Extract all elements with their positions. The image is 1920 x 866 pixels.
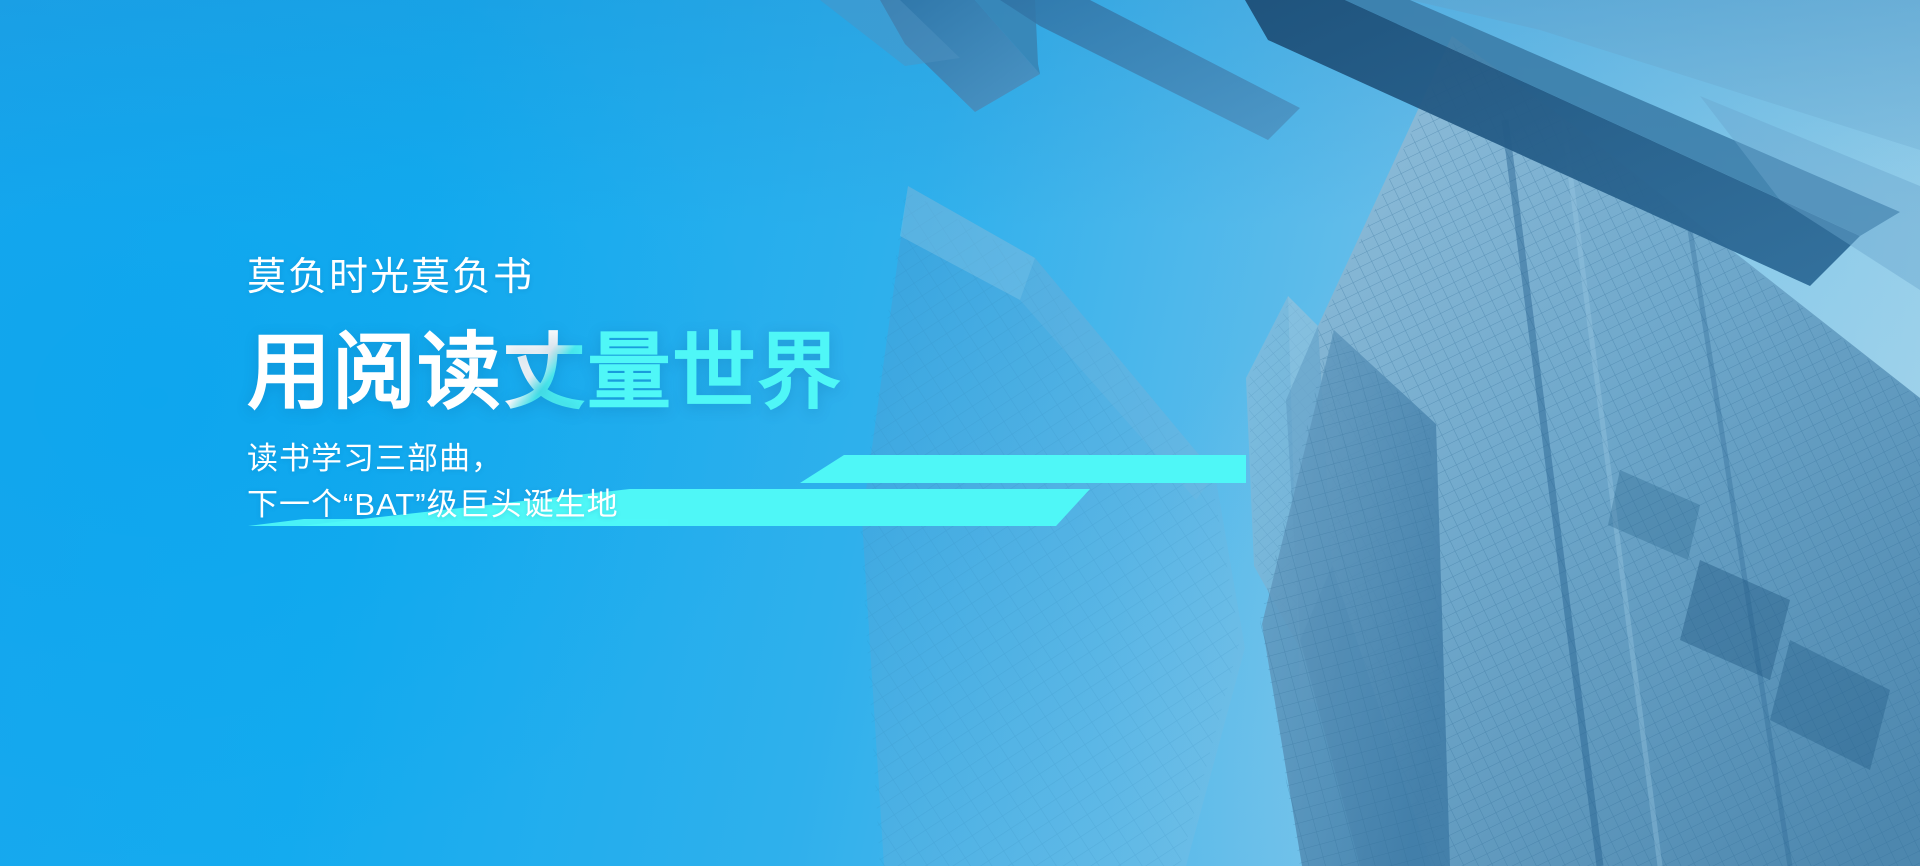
banner-subline-2: 下一个“BAT”级巨头诞生地 [247,482,1147,528]
promo-banner: 莫负时光莫负书 用阅读丈量世界 读书学习三部曲， 下一个“BAT”级巨头诞生地 [0,0,1920,866]
banner-sublines: 读书学习三部曲， 下一个“BAT”级巨头诞生地 [247,436,1147,528]
banner-eyebrow: 莫负时光莫负书 [247,258,1147,297]
banner-headline: 用阅读丈量世界 [247,330,1147,414]
banner-copy: 莫负时光莫负书 用阅读丈量世界 读书学习三部曲， 下一个“BAT”级巨头诞生地 [247,258,1147,528]
headline-segment-white: 用阅读 [247,325,502,419]
headline-segment-cyan: 量世界 [587,325,842,419]
banner-subline-1: 读书学习三部曲， [247,436,1147,482]
headline-segment-gradient: 丈 [502,325,587,419]
